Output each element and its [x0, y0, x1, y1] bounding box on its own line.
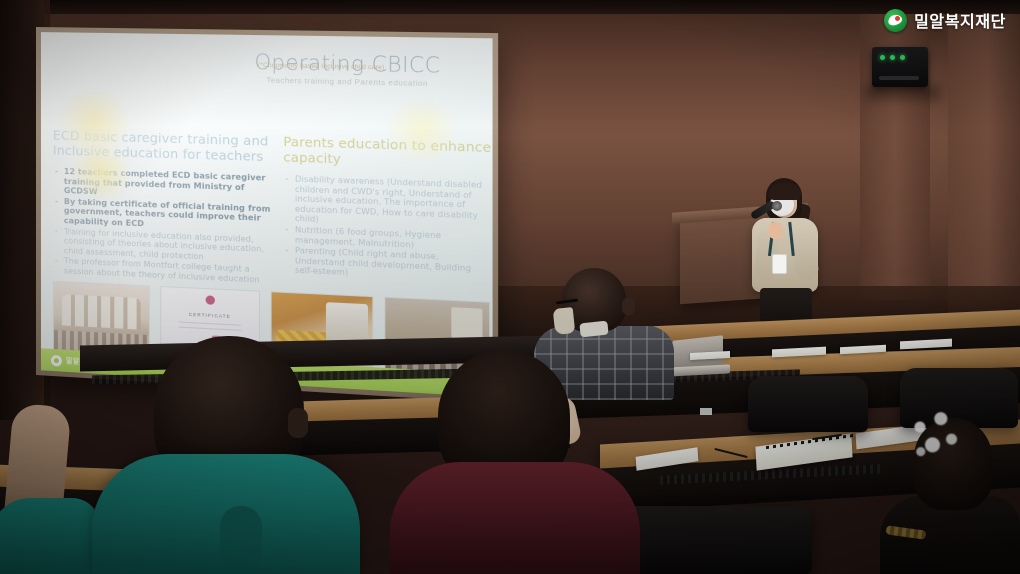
maroon-top — [390, 462, 640, 574]
presenter-hair-front — [769, 183, 801, 200]
column-heading-right: Parents education to enhance capacity — [283, 135, 492, 171]
column-heading-left: ECD basic caregiver training and Inclusi… — [53, 128, 275, 164]
bullet-item: Disability awareness (Understand disable… — [283, 174, 492, 232]
wall-mounted-av-unit-icon — [872, 47, 928, 87]
audience-member-lace-headwear — [880, 400, 1020, 574]
microphone-head-icon — [772, 201, 782, 211]
bullet-list-left: 12 teachers completed ECD basic caregive… — [53, 167, 275, 286]
conference-room-photo: Operating CBICC Teachers training and Pa… — [0, 0, 1020, 574]
id-badge — [772, 254, 787, 274]
bottle-label — [700, 408, 712, 415]
wall-column-right — [948, 0, 1020, 320]
led-indicator — [890, 55, 895, 60]
certificate-label: CERTIFICATE — [161, 310, 259, 320]
presenter-arm-right — [792, 227, 819, 281]
audience-ear — [622, 298, 635, 315]
presenter-hand — [768, 222, 783, 239]
lace-headwear — [903, 403, 970, 470]
broadcast-logo-text: 밀알복지재단 — [914, 8, 1006, 32]
shirt-collar — [579, 321, 608, 338]
broadcast-logo: 밀알복지재단 — [884, 8, 1006, 32]
certificate-line — [179, 322, 242, 326]
led-indicator — [900, 55, 905, 60]
audience-member-maroon-top — [390, 350, 640, 574]
certificate-line — [179, 327, 242, 331]
slide-column-right: Parents education to enhance capacity Di… — [283, 135, 492, 286]
audience-ear — [288, 408, 308, 438]
wall-device-shadow — [866, 86, 940, 100]
led-indicator — [880, 55, 885, 60]
audience-member-teal-top — [92, 336, 360, 574]
ceiling-seam — [0, 0, 1020, 14]
foundation-leaf-icon — [884, 9, 907, 32]
device-slot — [879, 76, 919, 80]
fabric-fold — [220, 506, 262, 574]
foundation-leaf-icon — [51, 354, 62, 366]
slide-column-left: ECD basic caregiver training and Inclusi… — [53, 128, 275, 286]
chair — [612, 506, 812, 574]
bullet-list-right: Disability awareness (Understand disable… — [283, 174, 492, 285]
face-mask-icon — [553, 307, 576, 335]
wall-column-left — [860, 0, 930, 300]
audience-member-left-edge — [0, 498, 100, 574]
certificate-seal-icon — [205, 296, 214, 306]
chair — [748, 376, 868, 432]
